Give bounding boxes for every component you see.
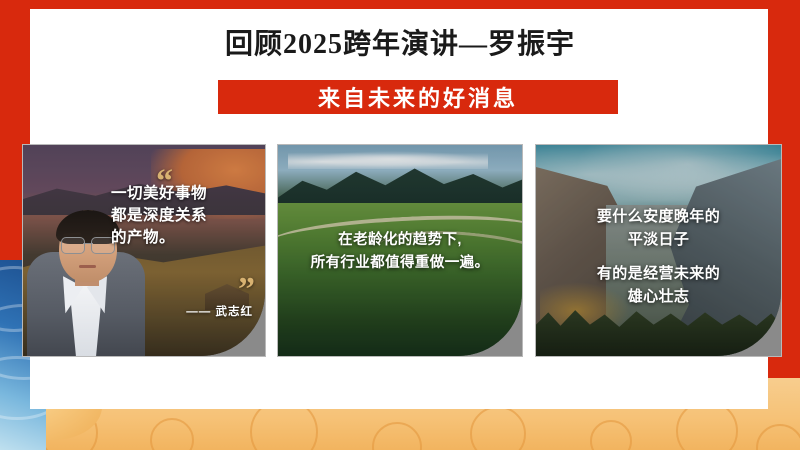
- card-3-quote-line-2: 平淡日子: [544, 228, 773, 251]
- card-2-quote-line-1: 在老龄化的趋势下,: [286, 229, 514, 252]
- card-2-quote-line-2: 所有行业都值得重做一遍。: [286, 252, 514, 275]
- card-3-quote-line-3: 有的是经营未来的: [544, 262, 773, 285]
- subtitle-text: 来自未来的好消息: [318, 81, 518, 113]
- close-quote-icon: ”: [238, 273, 255, 307]
- slide-root: 回顾2025跨年演讲—罗振宇 来自未来的好消息: [0, 0, 800, 450]
- card-2-image: 在老龄化的趋势下, 所有行业都值得重做一遍。: [278, 145, 522, 356]
- card-1-image: “ ” 一切美好事物 都是深度关系 的产物。 —— 武志红: [23, 145, 265, 356]
- card-3-image: 要什么安度晚年的 平淡日子 有的是经营未来的 雄心壮志: [536, 145, 781, 356]
- card-3-quote-line-4: 雄心壮志: [544, 285, 773, 308]
- card-1-quote-text: 一切美好事物 都是深度关系 的产物。: [111, 183, 253, 249]
- page-title: 回顾2025跨年演讲—罗振宇: [0, 22, 800, 62]
- card-3-quote-line-1: 要什么安度晚年的: [544, 205, 773, 228]
- card-1-quote-line-1: 一切美好事物: [111, 183, 253, 205]
- card-1-attribution: —— 武志红: [113, 303, 253, 319]
- card-1-quote-line-3: 的产物。: [111, 227, 253, 249]
- quote-card-3[interactable]: 要什么安度晚年的 平淡日子 有的是经营未来的 雄心壮志: [535, 144, 782, 357]
- eyeglasses-icon: [61, 237, 115, 252]
- subtitle-banner: 来自未来的好消息: [218, 80, 618, 114]
- quote-card-1[interactable]: “ ” 一切美好事物 都是深度关系 的产物。 —— 武志红: [22, 144, 266, 357]
- card-2-quote-text: 在老龄化的趋势下, 所有行业都值得重做一遍。: [278, 229, 522, 276]
- quote-card-row: “ ” 一切美好事物 都是深度关系 的产物。 —— 武志红: [0, 144, 800, 356]
- card-3-quote-text: 要什么安度晚年的 平淡日子 有的是经营未来的 雄心壮志: [536, 205, 781, 308]
- card-1-quote-line-2: 都是深度关系: [111, 205, 253, 227]
- quote-card-2[interactable]: 在老龄化的趋势下, 所有行业都值得重做一遍。: [277, 144, 523, 357]
